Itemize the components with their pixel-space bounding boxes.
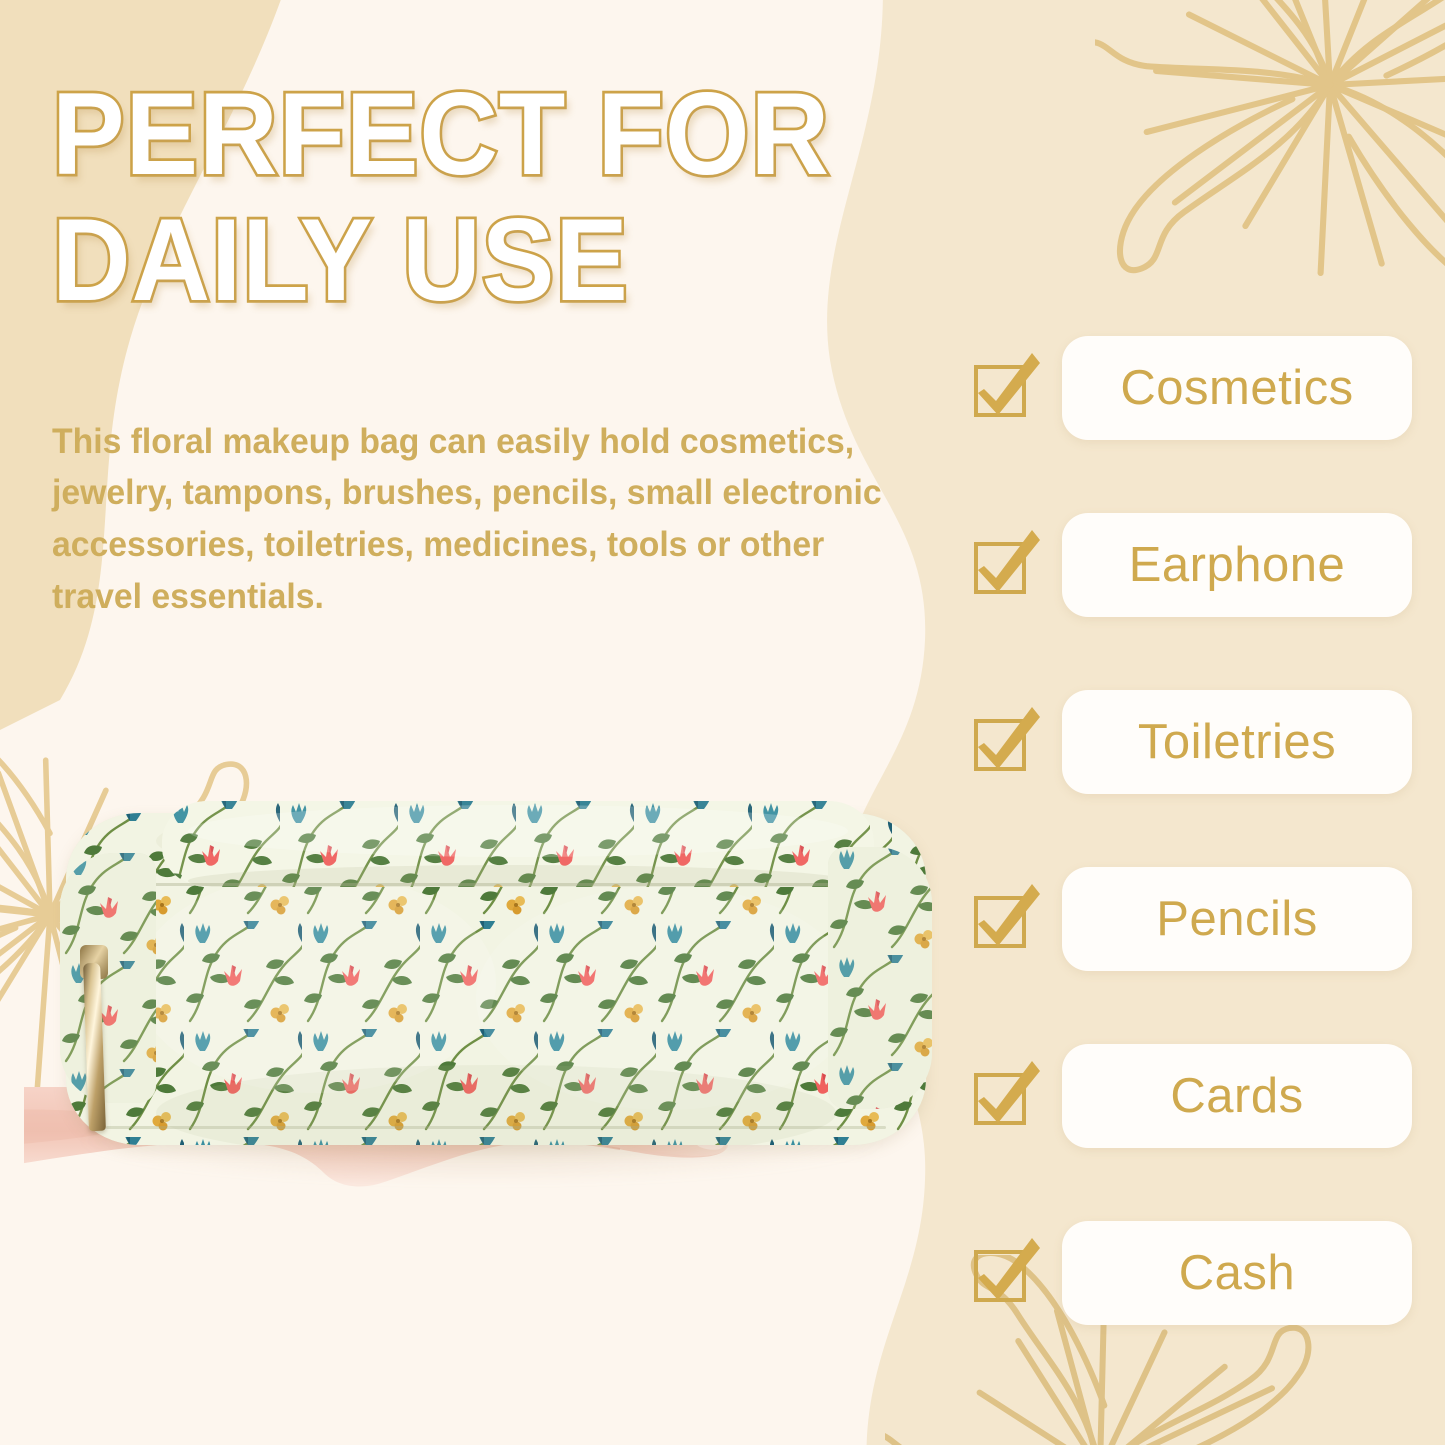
checklist-pill[interactable]: Toiletries bbox=[1062, 690, 1412, 794]
checklist-pill[interactable]: Earphone bbox=[1062, 513, 1412, 617]
description-paragraph: This floral makeup bag can easily hold c… bbox=[52, 416, 912, 623]
page-title: PERFECT FOR DAILY USE bbox=[52, 78, 992, 317]
checklist-pill[interactable]: Cash bbox=[1062, 1221, 1412, 1325]
checklist-label: Cash bbox=[1179, 1245, 1295, 1301]
checklist-pill[interactable]: Pencils bbox=[1062, 867, 1412, 971]
checklist-item-cash[interactable]: Cash bbox=[972, 1215, 1412, 1330]
checklist-label: Cards bbox=[1170, 1068, 1303, 1124]
checkbox-checked-icon[interactable] bbox=[972, 1242, 1034, 1304]
headline-line-1: PERFECT FOR bbox=[52, 78, 926, 190]
checklist-label: Cosmetics bbox=[1120, 360, 1353, 416]
checklist-item-cosmetics[interactable]: Cosmetics bbox=[972, 330, 1412, 445]
checkbox-checked-icon[interactable] bbox=[972, 888, 1034, 950]
checklist-item-pencils[interactable]: Pencils bbox=[972, 861, 1412, 976]
checkbox-checked-icon[interactable] bbox=[972, 1065, 1034, 1127]
product-marketing-banner: PERFECT FOR DAILY USE This floral makeup… bbox=[0, 0, 1445, 1445]
bag-right-side-panel bbox=[828, 847, 932, 1109]
bag-upper-seam bbox=[100, 883, 890, 886]
checklist-label: Earphone bbox=[1129, 537, 1346, 593]
headline-line-2: DAILY USE bbox=[52, 204, 926, 316]
checklist-pill[interactable]: Cards bbox=[1062, 1044, 1412, 1148]
makeup-bag bbox=[66, 813, 926, 1145]
checkbox-checked-icon[interactable] bbox=[972, 711, 1034, 773]
checkbox-checked-icon[interactable] bbox=[972, 534, 1034, 596]
feature-checklist: Cosmetics Earphone Toiletries bbox=[972, 330, 1412, 1330]
checklist-pill[interactable]: Cosmetics bbox=[1062, 336, 1412, 440]
floral-embroidery-print-top bbox=[162, 801, 874, 887]
bag-lower-seam bbox=[106, 1126, 886, 1129]
checklist-label: Pencils bbox=[1156, 891, 1317, 947]
checklist-item-earphone[interactable]: Earphone bbox=[972, 507, 1412, 622]
bag-top-seam-roll bbox=[162, 801, 874, 887]
bag-left-side-panel bbox=[60, 853, 156, 1103]
checklist-item-toiletries[interactable]: Toiletries bbox=[972, 684, 1412, 799]
checklist-item-cards[interactable]: Cards bbox=[972, 1038, 1412, 1153]
product-image bbox=[24, 795, 939, 1215]
checklist-label: Toiletries bbox=[1138, 714, 1336, 770]
checkbox-checked-icon[interactable] bbox=[972, 357, 1034, 419]
